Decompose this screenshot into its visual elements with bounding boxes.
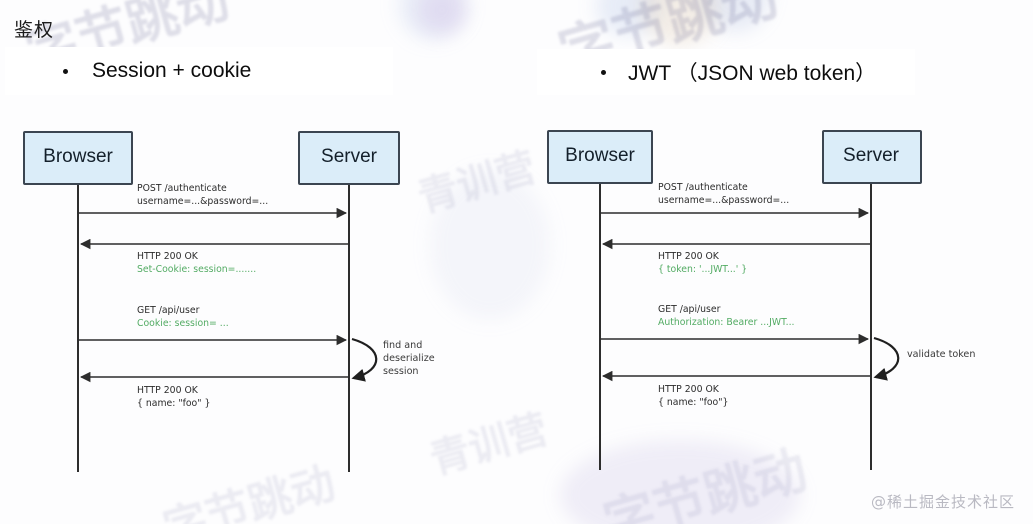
message-1: POST /authenticate username=...&password… xyxy=(78,183,346,213)
message-4-line-1: HTTP 200 OK xyxy=(137,385,199,396)
bullet-label-session-cookie: Session + cookie xyxy=(92,59,251,83)
message-2: HTTP 200 OK { token: '...JWT...' } xyxy=(603,244,871,275)
bullet-card-session-cookie: Session + cookie xyxy=(5,47,393,95)
message-1-line-2: username=...&password=... xyxy=(137,196,268,207)
self-call-server: find and deserialize session xyxy=(352,339,435,378)
participant-browser: Browser xyxy=(24,132,132,184)
message-3-line-1: GET /api/user xyxy=(658,304,721,315)
self-call-note-line-1: find and xyxy=(383,340,422,351)
message-3-line-1: GET /api/user xyxy=(137,305,200,316)
message-4-line-2: { name: "foo"} xyxy=(658,397,728,408)
sequence-diagram-session-cookie: Browser Server POST /authenticate userna… xyxy=(0,108,500,508)
watermark-blob-4 xyxy=(640,0,720,46)
participant-server-label: Server xyxy=(321,146,378,167)
bullet-card-jwt: JWT （JSON web token） xyxy=(537,49,915,95)
message-4: HTTP 200 OK { name: "foo" } xyxy=(81,377,349,409)
message-1-line-2: username=...&password=... xyxy=(658,195,789,206)
credit-watermark: @稀土掘金技术社区 xyxy=(871,491,1015,512)
watermark-blob-3 xyxy=(596,0,662,36)
message-3: GET /api/user Authorization: Bearer ...J… xyxy=(600,304,868,339)
message-2-line-2: { token: '...JWT...' } xyxy=(658,264,747,275)
self-call-note-line-2: deserialize xyxy=(383,353,435,364)
bullet-dot-icon xyxy=(63,69,68,74)
message-1-line-1: POST /authenticate xyxy=(137,183,227,194)
participant-server: Server xyxy=(299,132,399,184)
self-call-arc xyxy=(352,339,376,378)
message-4-line-1: HTTP 200 OK xyxy=(658,384,720,395)
participant-server-label: Server xyxy=(843,145,900,166)
self-call-arc xyxy=(874,338,898,377)
participant-browser-label: Browser xyxy=(43,146,113,167)
watermark-blob-5 xyxy=(700,0,770,32)
message-1-line-1: POST /authenticate xyxy=(658,182,748,193)
bullet-label-jwt: JWT （JSON web token） xyxy=(628,57,876,87)
self-call-note-line-3: session xyxy=(383,366,419,377)
message-3-line-2: Authorization: Bearer ...JWT... xyxy=(658,317,795,328)
participant-browser-label: Browser xyxy=(565,145,635,166)
participant-browser: Browser xyxy=(548,131,652,183)
message-4-line-2: { name: "foo" } xyxy=(137,398,210,409)
bullet-dot-icon xyxy=(601,70,606,75)
message-2-line-1: HTTP 200 OK xyxy=(658,251,720,262)
self-call-server: validate token xyxy=(874,338,975,377)
participant-server: Server xyxy=(823,131,921,183)
page-title: 鉴权 xyxy=(14,15,54,42)
message-1: POST /authenticate username=...&password… xyxy=(600,182,868,213)
message-3: GET /api/user Cookie: session= ... xyxy=(78,305,346,340)
message-4: HTTP 200 OK { name: "foo"} xyxy=(603,376,871,408)
message-2-line-1: HTTP 200 OK xyxy=(137,251,199,262)
message-3-line-2: Cookie: session= ... xyxy=(137,318,229,329)
watermark-blob-2 xyxy=(418,0,466,34)
self-call-note-line-1: validate token xyxy=(907,349,975,360)
message-2-line-2: Set-Cookie: session=....... xyxy=(137,264,256,275)
watermark-blob-1 xyxy=(398,0,468,40)
message-2: HTTP 200 OK Set-Cookie: session=....... xyxy=(81,244,349,275)
sequence-diagram-jwt: Browser Server POST /authenticate userna… xyxy=(530,105,1030,505)
